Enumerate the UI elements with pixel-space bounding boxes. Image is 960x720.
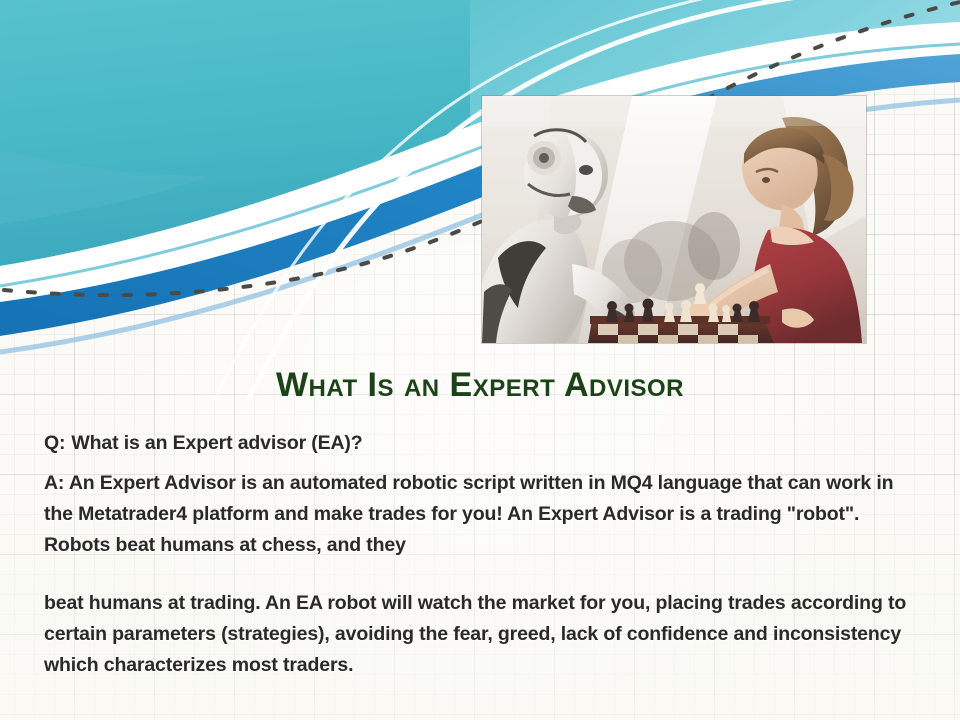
answer-continuation-paragraph: beat humans at trading. An EA robot will… [44, 588, 924, 681]
chess-photo-illustration [482, 96, 866, 343]
question-line: Q:What is an Expert advisor (EA)? [44, 428, 924, 459]
answer-tag: A: [44, 472, 64, 494]
presentation-slide: What Is an Expert Advisor Q:What is an E… [0, 0, 960, 720]
answer-text: An Expert Advisor is an automated roboti… [44, 472, 893, 556]
chess-photo [482, 96, 866, 343]
answer-continuation-text: beat humans at trading. An EA robot will… [44, 592, 906, 676]
page-title: What Is an Expert Advisor [0, 366, 960, 405]
answer-paragraph: A: An Expert Advisor is an automated rob… [44, 468, 924, 561]
question-text: What is an Expert advisor (EA)? [71, 432, 362, 454]
question-tag: Q: [44, 432, 65, 454]
